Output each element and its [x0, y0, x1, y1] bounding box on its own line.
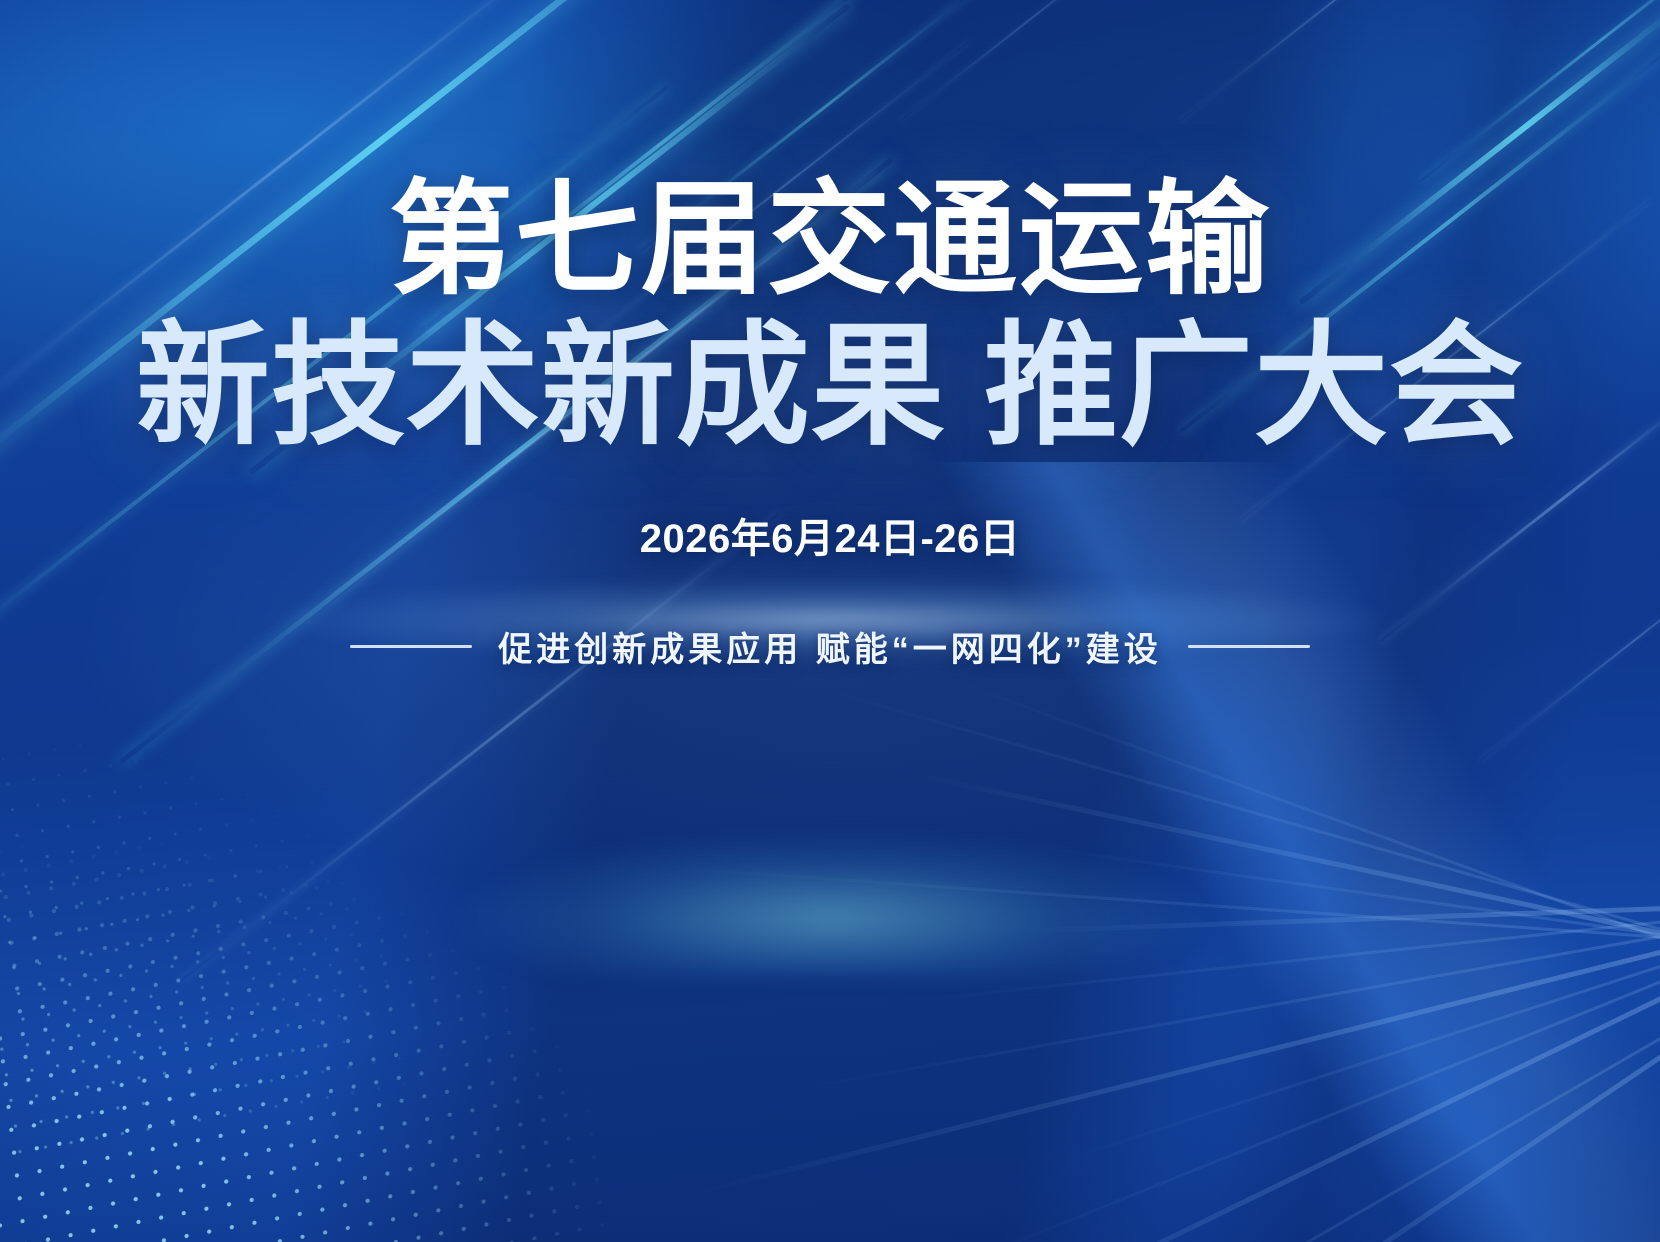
rule-left-icon [350, 645, 472, 648]
rule-right-icon [1188, 645, 1310, 648]
conference-subtitle: 促进创新成果应用 赋能“一网四化”建设 [498, 622, 1161, 671]
conference-title-line-2: 新技术新成果 推广大会 [136, 320, 1524, 454]
conference-date: 2026年6月24日-26日 [640, 506, 1021, 564]
conference-title-line-1: 第七届交通运输 [389, 178, 1271, 302]
poster-canvas: 第七届交通运输 新技术新成果 推广大会 2026年6月24日-26日 促进创新成… [0, 0, 1660, 1242]
poster-content: 第七届交通运输 新技术新成果 推广大会 2026年6月24日-26日 促进创新成… [0, 0, 1660, 1242]
subtitle-row: 促进创新成果应用 赋能“一网四化”建设 [350, 622, 1309, 671]
